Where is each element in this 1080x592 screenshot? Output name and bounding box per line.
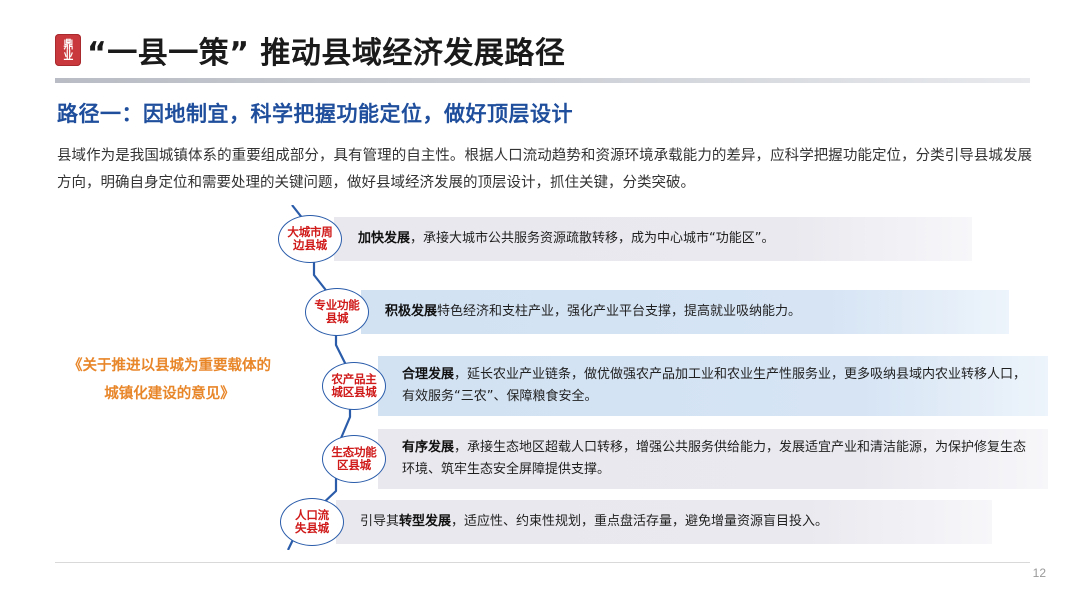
- description-lead-2: 合理发展: [402, 367, 454, 382]
- diagram-row: 农产品主 城区县城 合理发展，延长农业产业链条，做优做强农产品加工业和农业生产性…: [322, 357, 1048, 415]
- description-prefix-4: 引导其: [360, 514, 399, 529]
- county-strategy-diagram: 大城市周 边县城 加快发展，承接大城市公共服务资源疏散转移，成为中心城市“功能区…: [270, 205, 1060, 550]
- description-lead-3: 有序发展: [402, 440, 454, 455]
- bubble-line-2: 区县城: [337, 459, 371, 472]
- policy-document-note: 《关于推进以县城为重要载体的城镇化建设的意见》: [62, 352, 277, 408]
- diagram-row: 人口流 失县城 引导其转型发展，适应性、约束性规划，重点盘活存量，避免增量资源盲…: [280, 500, 992, 544]
- bubble-line-2: 失县城: [295, 522, 329, 535]
- category-description-bar-1: 积极发展特色经济和支柱产业，强化产业平台支撑，提高就业吸纳能力。: [361, 290, 1009, 334]
- bubble-line-2: 城区县城: [331, 386, 376, 399]
- diagram-row: 大城市周 边县城 加快发展，承接大城市公共服务资源疏散转移，成为中心城市“功能区…: [278, 217, 972, 261]
- slide-root: 鼎 业 “一县一策” 推动县域经济发展路径 路径一：因地制宜，科学把握功能定位，…: [0, 0, 1080, 592]
- slide-title-row: 鼎 业 “一县一策” 推动县域经济发展路径: [55, 28, 565, 72]
- description-text-1: 特色经济和支柱产业，强化产业平台支撑，提高就业吸纳能力。: [437, 304, 801, 319]
- bubble-line-2: 边县城: [293, 239, 327, 252]
- category-bubble-0[interactable]: 大城市周 边县城: [278, 215, 342, 263]
- description-text-3: ，承接生态地区超载人口转移，增强公共服务供给能力，发展适宜产业和清洁能源，为保护…: [402, 440, 1026, 477]
- diagram-row: 生态功能 区县城 有序发展，承接生态地区超载人口转移，增强公共服务供给能力，发展…: [322, 430, 1048, 488]
- description-text-0: ，承接大城市公共服务资源疏散转移，成为中心城市“功能区”。: [410, 231, 774, 246]
- seal-glyph-bottom: 业: [63, 50, 73, 61]
- category-description-bar-0: 加快发展，承接大城市公共服务资源疏散转移，成为中心城市“功能区”。: [334, 217, 972, 261]
- title-divider: [55, 78, 1030, 83]
- category-bubble-1[interactable]: 专业功能 县城: [305, 288, 369, 336]
- body-paragraph: 县域作为是我国城镇体系的重要组成部分，具有管理的自主性。根据人口流动趋势和资源环…: [57, 143, 1032, 197]
- category-description-bar-2: 合理发展，延长农业产业链条，做优做强农产品加工业和农业生产性服务业，更多吸纳县域…: [378, 356, 1048, 416]
- description-lead-0: 加快发展: [358, 231, 410, 246]
- seal-icon: 鼎 业: [55, 34, 81, 66]
- page-title: “一县一策” 推动县域经济发展路径: [87, 28, 565, 72]
- description-lead-1: 积极发展: [385, 304, 437, 319]
- description-text-4: ，适应性、约束性规划，重点盘活存量，避免增量资源盲目投入。: [451, 514, 828, 529]
- footer-divider: [55, 562, 1030, 563]
- description-lead-4: 转型发展: [399, 514, 451, 529]
- category-bubble-3[interactable]: 生态功能 区县城: [322, 435, 386, 483]
- page-number: 12: [1033, 566, 1046, 580]
- category-description-bar-4: 引导其转型发展，适应性、约束性规划，重点盘活存量，避免增量资源盲目投入。: [336, 500, 992, 544]
- category-bubble-2[interactable]: 农产品主 城区县城: [322, 362, 386, 410]
- description-text-2: ，延长农业产业链条，做优做强农产品加工业和农业生产性服务业，更多吸纳县域内农业转…: [402, 367, 1026, 404]
- category-description-bar-3: 有序发展，承接生态地区超载人口转移，增强公共服务供给能力，发展适宜产业和清洁能源…: [378, 429, 1048, 489]
- section-heading: 路径一：因地制宜，科学把握功能定位，做好顶层设计: [57, 98, 573, 128]
- diagram-row: 专业功能 县城 积极发展特色经济和支柱产业，强化产业平台支撑，提高就业吸纳能力。: [305, 290, 1009, 334]
- bubble-line-2: 县城: [326, 312, 349, 325]
- category-bubble-4[interactable]: 人口流 失县城: [280, 498, 344, 546]
